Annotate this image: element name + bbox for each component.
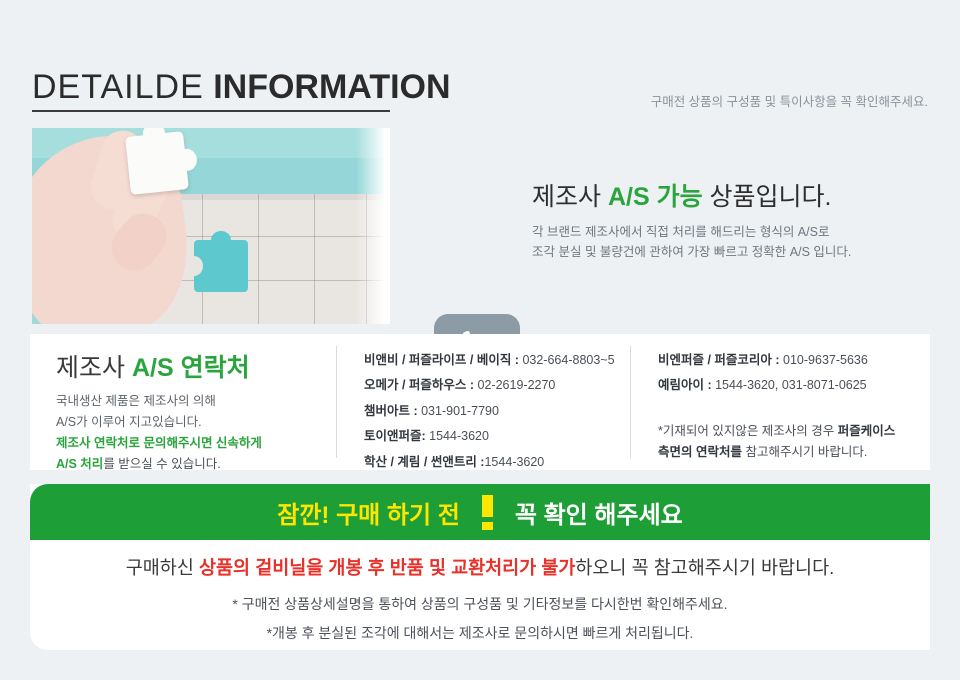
contact-desc-line-1: 국내생산 제품은 제조사의 의해	[56, 394, 216, 408]
exclamation-dot	[482, 522, 493, 530]
page-header: DETAILDE INFORMATION 구매전 상품의 구성품 및 특이사항을…	[32, 68, 928, 118]
contact-number: 032-664-8803~5	[522, 353, 614, 367]
contact-entry: 토이앤퍼즐: 1544-3620	[364, 424, 626, 449]
exclamation-bar	[482, 495, 493, 517]
contact-number: 02-2619-2270	[478, 378, 556, 392]
notice-banner-content: 잠깐! 구매 하기 전 꼭 확인 해주세요	[30, 484, 930, 540]
notice-warning-post: 하오니 꼭 참고해주시기 바랍니다.	[575, 557, 834, 578]
header-note: 구매전 상품의 구성품 및 특이사항을 꼭 확인해주세요.	[651, 91, 928, 110]
contact-number: 1544-3620	[484, 455, 544, 469]
notice-warning-pre: 구매하신	[126, 557, 199, 578]
contact-entry: 비엔퍼즐 / 퍼즐코리아 : 010-9637-5636	[658, 348, 938, 373]
contact-heading-highlight: A/S 연락처	[132, 354, 250, 382]
product-detail-page: DETAILDE INFORMATION 구매전 상품의 구성품 및 특이사항을…	[0, 0, 960, 680]
contact-desc-line-3: 제조사 연락처로 문의해주시면 신속하게	[56, 436, 262, 450]
puzzle-gridline	[258, 194, 259, 324]
banner-text-yellow: 잠깐! 구매 하기 전	[277, 495, 460, 530]
contact-brand: 토이앤퍼즐:	[364, 429, 429, 443]
contact-desc-line-4-dark: 를 받으실 수 있습니다.	[103, 457, 220, 471]
contact-intro-column: 제조사 A/S 연락처 국내생산 제품은 제조사의 의해 A/S가 이루어 지고…	[56, 348, 332, 475]
column-divider-2	[630, 346, 631, 458]
puzzle-board-edge	[150, 194, 390, 200]
contact-number: 010-9637-5636	[783, 353, 868, 367]
contact-entry: 오메가 / 퍼즐하우스 : 02-2619-2270	[364, 373, 626, 398]
banner-text-white: 꼭 확인 해주세요	[515, 495, 683, 530]
purchase-notice-card: 잠깐! 구매 하기 전 꼭 확인 해주세요 구매하신 상품의 겉비닐을 개봉 후…	[30, 484, 930, 650]
contact-column-right: 비엔퍼즐 / 퍼즐코리아 : 010-9637-5636 예림아이 : 1544…	[658, 348, 938, 464]
contact-brand: 비앤비 / 퍼즐라이프 / 베이직 :	[364, 353, 522, 367]
hero-section: 제조사 A/S 가능 상품입니다. 각 브랜드 제조사에서 직접 처리를 해드리…	[32, 128, 928, 324]
notice-subtext-1: * 구매전 상품상세설명을 통하여 상품의 구성품 및 기타정보를 다시한번 확…	[30, 594, 930, 614]
hero-headline-pre: 제조사	[532, 183, 608, 211]
hero-headline-post: 상품입니다.	[703, 183, 832, 211]
hero-subtext-line-1: 각 브랜드 제조사에서 직접 처리를 해드리는 형식의 A/S로	[532, 222, 928, 242]
puzzle-gridline	[150, 280, 390, 281]
hero-text: 제조사 A/S 가능 상품입니다. 각 브랜드 제조사에서 직접 처리를 해드리…	[532, 184, 928, 262]
notice-warning-highlight: 상품의 겉비닐을 개봉 후 반품 및 교환처리가 불가	[199, 557, 575, 578]
contact-number: 031-901-7790	[421, 404, 499, 418]
puzzle-piece	[125, 131, 189, 195]
contact-entry: 챔버아트 : 031-901-7790	[364, 399, 626, 424]
contact-desc-line-2: A/S가 이루어 지고있습니다.	[56, 415, 202, 429]
exclamation-icon	[482, 495, 493, 529]
notice-main-warning: 구매하신 상품의 겉비닐을 개봉 후 반품 및 교환처리가 불가하오니 꼭 참고…	[30, 554, 930, 580]
contact-entry: 학산 / 계림 / 썬앤트리 :1544-3620	[364, 450, 626, 475]
contact-desc-line-4-green: A/S 처리	[56, 457, 103, 471]
hero-headline: 제조사 A/S 가능 상품입니다.	[532, 184, 928, 212]
puzzle-empty-slot	[194, 240, 248, 292]
contact-entry: 비앤비 / 퍼즐라이프 / 베이직 : 032-664-8803~5	[364, 348, 626, 373]
contact-footnote-bold-2: 측면의 연락처를	[658, 445, 742, 459]
contact-number: 1544-3620	[429, 429, 489, 443]
puzzle-photo	[32, 128, 390, 324]
contact-description: 국내생산 제품은 제조사의 의해 A/S가 이루어 지고있습니다. 제조사 연락…	[56, 391, 332, 475]
contact-column-middle: 비앤비 / 퍼즐라이프 / 베이직 : 032-664-8803~5 오메가 /…	[364, 348, 626, 475]
notice-subtext-2: *개봉 후 분실된 조각에 대해서는 제조사로 문의하시면 빠르게 처리됩니다.	[30, 623, 930, 643]
page-title: DETAILDE INFORMATION	[32, 68, 451, 107]
contact-entry: 예림아이 : 1544-3620, 031-8071-0625	[658, 373, 938, 398]
contact-brand: 챔버아트 :	[364, 404, 421, 418]
hero-headline-highlight: A/S 가능	[608, 183, 703, 211]
contact-brand: 학산 / 계림 / 썬앤트리 :	[364, 455, 484, 469]
column-divider-1	[336, 346, 337, 458]
contact-footnote-bold-1: 퍼즐케이스	[838, 424, 896, 438]
contact-footnote-pre: *기재되어 있지않은 제조사의 경우	[658, 424, 838, 438]
page-title-thin: DETAILDE	[32, 68, 204, 106]
hero-subtext: 각 브랜드 제조사에서 직접 처리를 해드리는 형식의 A/S로 조각 분실 및…	[532, 222, 928, 263]
contact-brand: 비엔퍼즐 / 퍼즐코리아 :	[658, 353, 783, 367]
page-title-bold: INFORMATION	[213, 68, 450, 106]
contact-brand: 오메가 / 퍼즐하우스 :	[364, 378, 478, 392]
hero-subtext-line-2: 조각 분실 및 불량건에 관하여 가장 빠르고 정확한 A/S 입니다.	[532, 242, 928, 262]
photo-fade-edge	[356, 128, 390, 324]
contact-brand: 예림아이 :	[658, 378, 715, 392]
contact-number: 1544-3620, 031-8071-0625	[715, 378, 867, 392]
contact-heading: 제조사 A/S 연락처	[56, 348, 332, 384]
puzzle-gridline	[314, 194, 315, 324]
title-underline	[32, 110, 390, 112]
manufacturer-contact-card: 제조사 A/S 연락처 국내생산 제품은 제조사의 의해 A/S가 이루어 지고…	[30, 334, 930, 470]
contact-footnote: *기재되어 있지않은 제조사의 경우 퍼즐케이스 측면의 연락처를 참고해주시기…	[658, 421, 938, 464]
contact-footnote-post: 참고해주시기 바랍니다.	[742, 445, 867, 459]
contact-heading-pre: 제조사	[56, 354, 132, 382]
